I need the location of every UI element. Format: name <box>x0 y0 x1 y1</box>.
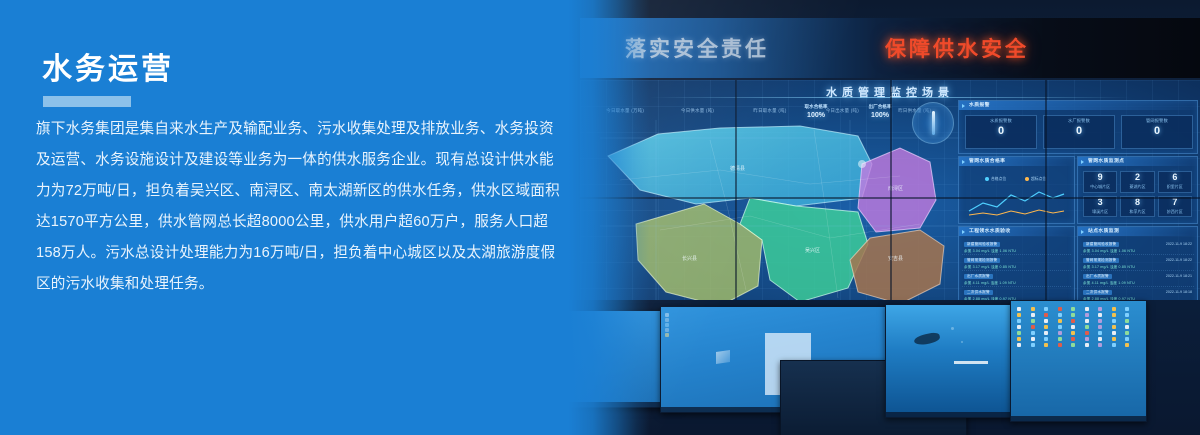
page-title: 水务运营 <box>42 55 174 85</box>
log-row[interactable]: 新建管网验收报警 2022-11-9 18:22 余氯 3.04 mg/L 浊度… <box>1081 241 1194 255</box>
alarm-metric: 水厂报警数 0 <box>1043 115 1115 149</box>
banner-slogan-right: 保障供水安全 <box>885 33 1029 63</box>
inspect-row-values: 余氯 4.11 mg/L 浊度 1.09 NTU <box>964 281 1016 286</box>
inspect-row-tag: 二次供水报警 <box>964 290 993 295</box>
compass-dial-icon <box>912 102 954 144</box>
underwater-monitor-taskbar[interactable] <box>886 412 1011 417</box>
water-operations-banner: 落实安全责任 保障供水安全 水质管理监控场景 今日取水量 (万吨) 今日供水量 … <box>0 0 1200 435</box>
selection-bar <box>954 361 988 364</box>
percent-value: 100% <box>852 112 908 119</box>
alarm-metric: 管网报警数 0 <box>1121 115 1193 149</box>
alarm-metric-value: 0 <box>966 125 1036 137</box>
bubble-icon <box>961 341 963 343</box>
windows-logo-icon <box>716 350 730 364</box>
rate-trend-chart <box>967 185 1066 219</box>
log-row-values: 余氯 3.17 mg/L 浊度 0.85 NTU <box>1083 265 1135 270</box>
underwater-wallpaper <box>886 305 1011 417</box>
alarm-card-title: 水质报警 <box>959 101 1197 110</box>
site-cell-label: 织里片区 <box>1167 184 1183 190</box>
desktop-icon-grid <box>1017 307 1137 347</box>
rate-card-title: 管网水质合格率 <box>959 157 1074 166</box>
control-room-photo: 落实安全责任 保障供水安全 水质管理监控场景 今日取水量 (万吨) 今日供水量 … <box>540 0 1200 435</box>
alarm-metric-value: 0 <box>1122 125 1192 137</box>
alarm-metric-value: 0 <box>1044 125 1114 137</box>
site-cell-value: 9 <box>1098 173 1103 182</box>
site-card[interactable]: 管网水质监测点 9 中心城片区 2 菱湖片区 6 织里片区 <box>1077 156 1198 224</box>
inspect-row[interactable]: 管网常规检测报警 余氯 3.17 mg/L 浊度 0.85 NTU <box>962 257 1071 271</box>
inspect-row-values: 余氯 3.04 mg/L 浊度 1.06 NTU <box>964 249 1016 254</box>
bezel-seam <box>580 197 1200 199</box>
alarm-metric: 水质报警数 0 <box>965 115 1037 149</box>
site-cell-label: 菱湖片区 <box>1129 184 1145 190</box>
inspect-card-title: 工程领水水质验收 <box>959 227 1074 236</box>
icons-monitor-taskbar[interactable] <box>1011 416 1146 421</box>
inspect-row[interactable]: 新建管网验收报警 余氯 3.04 mg/L 浊度 1.06 NTU <box>962 241 1071 255</box>
site-cell[interactable]: 9 中心城片区 <box>1083 171 1117 193</box>
site-cell-value: 6 <box>1172 173 1177 182</box>
alarm-metric-label: 水厂报警数 <box>1044 118 1114 124</box>
site-cell-label: 埭溪片区 <box>1092 209 1108 215</box>
intro-paragraph: 旗下水务集团是集自来水生产及输配业务、污水收集处理及排放业务、水务投资及运营、水… <box>36 114 564 300</box>
center-monitor-icons <box>665 313 669 337</box>
site-cell-value: 8 <box>1135 198 1140 207</box>
region-map-svg: 德清县 南浔区 吴兴区 长兴县 安吉县 <box>600 120 970 312</box>
legend-item-qualified: 合格点位 <box>985 177 1006 182</box>
map-label-wuxing: 吴兴区 <box>805 247 820 254</box>
log-row-date: 2022-11-9 18:18 <box>1166 290 1192 294</box>
site-cell-label: 妙西片区 <box>1167 209 1183 215</box>
log-card-title: 站点水质监测 <box>1078 227 1197 236</box>
site-cell-label: 中心城片区 <box>1090 184 1110 190</box>
alarm-card[interactable]: 水质报警 水质报警数 0 水厂报警数 0 管网报警数 0 <box>958 100 1198 154</box>
inspect-row-tag: 管网常规检测报警 <box>964 258 1000 263</box>
rate-card[interactable]: 管网水质合格率 合格点位 超标点位 <box>958 156 1075 224</box>
map-label-deqing: 德清县 <box>730 165 745 172</box>
title-underline <box>43 96 131 107</box>
alarm-metric-label: 水质报警数 <box>966 118 1036 124</box>
log-row-tag: 新建管网验收报警 <box>1083 242 1119 247</box>
site-cell-value: 3 <box>1098 198 1103 207</box>
icons-monitor[interactable] <box>1010 300 1147 422</box>
site-card-title: 管网水质监测点 <box>1078 157 1197 166</box>
map-label-changxing: 长兴县 <box>682 255 697 262</box>
site-cell-value: 7 <box>1172 198 1177 207</box>
site-cell-grid: 9 中心城片区 2 菱湖片区 6 织里片区 3 <box>1083 171 1192 217</box>
percent-label: 出厂合格率 <box>852 104 908 110</box>
percent-label: 取水合格率 <box>788 104 844 110</box>
intro-panel: 水务运营 旗下水务集团是集自来水生产及输配业务、污水收集处理及排放业务、水务投资… <box>0 0 600 435</box>
log-row[interactable]: 出厂水质报警 2022-11-9 18:21 余氯 4.11 mg/L 浊度 1… <box>1081 273 1194 287</box>
log-row-values: 余氯 3.04 mg/L 浊度 1.06 NTU <box>1083 249 1135 254</box>
map-hotspot <box>858 160 866 168</box>
log-row-values: 余氯 4.11 mg/L 浊度 1.09 NTU <box>1083 281 1135 286</box>
underwater-monitor[interactable] <box>885 304 1012 418</box>
site-cell-label: 和孚片区 <box>1129 209 1145 215</box>
dashboard-side-panel: 水质报警 水质报警数 0 水厂报警数 0 管网报警数 0 管网水质 <box>958 100 1196 312</box>
inspect-row[interactable]: 出厂水质报警 余氯 4.11 mg/L 浊度 1.09 NTU <box>962 273 1071 287</box>
log-row-date: 2022-11-9 18:22 <box>1166 258 1192 262</box>
water-quality-dashboard: 水质管理监控场景 今日取水量 (万吨) 今日供水量 (吨) 昨日取水量 (吨) … <box>580 80 1200 315</box>
log-row-tag: 出厂水质报警 <box>1083 274 1112 279</box>
inspect-row-tag: 新建管网验收报警 <box>964 242 1000 247</box>
log-row-tag: 管网常规检测报警 <box>1083 258 1119 263</box>
alarm-metric-label: 管网报警数 <box>1122 118 1192 124</box>
log-row-date: 2022-11-9 18:21 <box>1166 274 1192 278</box>
video-wall-banner: 落实安全责任 保障供水安全 <box>580 18 1200 78</box>
site-cell[interactable]: 2 菱湖片区 <box>1120 171 1154 193</box>
log-row[interactable]: 管网常规检测报警 2022-11-9 18:22 余氯 3.17 mg/L 浊度… <box>1081 257 1194 271</box>
inspect-row-values: 余氯 3.17 mg/L 浊度 0.85 NTU <box>964 265 1016 270</box>
percent-value: 100% <box>788 112 844 119</box>
log-row-date: 2022-11-9 18:22 <box>1166 242 1192 246</box>
inspect-row-tag: 出厂水质报警 <box>964 274 993 279</box>
legend-item-exceeded: 超标点位 <box>1025 177 1046 182</box>
site-cell[interactable]: 6 织里片区 <box>1158 171 1192 193</box>
region-map: 德清县 南浔区 吴兴区 长兴县 安吉县 <box>600 120 970 312</box>
log-row-tag: 二次供水报警 <box>1083 290 1112 295</box>
site-cell-value: 2 <box>1135 173 1140 182</box>
